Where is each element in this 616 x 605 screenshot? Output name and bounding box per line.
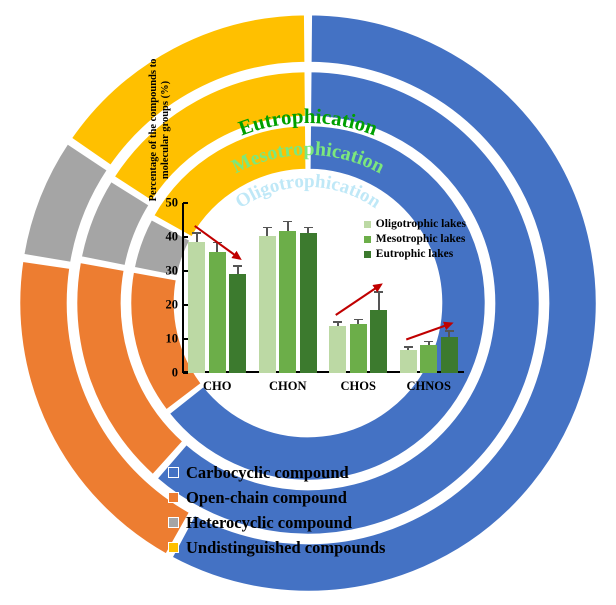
trend-arrow-chos [336, 285, 381, 315]
square-swatch-icon [168, 542, 179, 553]
chart-y-tick-label: 40 [166, 230, 179, 245]
legend-item[interactable]: Undistinguished compounds [168, 535, 468, 560]
figure-canvas: Eutrophication Mesotrophication Oligotro… [0, 0, 616, 605]
chart-legend-item: Oligotrophic lakes [364, 217, 466, 232]
chart-legend-item: Eutrophic lakes [364, 247, 466, 262]
chart-y-tick-label: 0 [172, 366, 178, 381]
chart-x-tick-label: CHOS [341, 379, 376, 394]
legend-item[interactable]: Carbocyclic compound [168, 460, 468, 485]
chart-legend-swatch-icon [364, 251, 371, 258]
chart-legend-item: Mesotrophic lakes [364, 232, 466, 247]
chart-x-tick-label: CHO [203, 379, 231, 394]
legend-item-label: Open-chain compound [186, 488, 347, 508]
legend-item-label: Undistinguished compounds [186, 538, 385, 558]
square-swatch-icon [168, 492, 179, 503]
chart-y-tick-label: 50 [166, 196, 179, 211]
square-swatch-icon [168, 517, 179, 528]
bar-chart: Percentage of the compounds to molecular… [152, 203, 464, 395]
chart-legend-label: Eutrophic lakes [376, 247, 453, 262]
chart-y-tick-label: 20 [166, 298, 179, 313]
chart-x-tick-label: CHNOS [407, 379, 451, 394]
chart-y-tick-label: 10 [166, 332, 179, 347]
category-legend: Carbocyclic compoundOpen-chain compoundH… [168, 460, 468, 560]
square-swatch-icon [168, 467, 179, 478]
legend-item-label: Heterocyclic compound [186, 513, 352, 533]
chart-y-axis-label: Percentage of the compounds to molecular… [148, 55, 172, 205]
legend-item[interactable]: Heterocyclic compound [168, 510, 468, 535]
chart-legend-label: Mesotrophic lakes [376, 232, 466, 247]
chart-legend: Oligotrophic lakesMesotrophic lakesEutro… [364, 217, 466, 262]
trend-arrow-cho [195, 226, 240, 259]
chart-x-tick-label: CHON [269, 379, 307, 394]
legend-item-label: Carbocyclic compound [186, 463, 349, 483]
trend-arrow-chnos [406, 324, 451, 340]
chart-legend-label: Oligotrophic lakes [376, 217, 466, 232]
chart-legend-swatch-icon [364, 221, 371, 228]
legend-item[interactable]: Open-chain compound [168, 485, 468, 510]
chart-y-tick-label: 30 [166, 264, 179, 279]
chart-legend-swatch-icon [364, 236, 371, 243]
